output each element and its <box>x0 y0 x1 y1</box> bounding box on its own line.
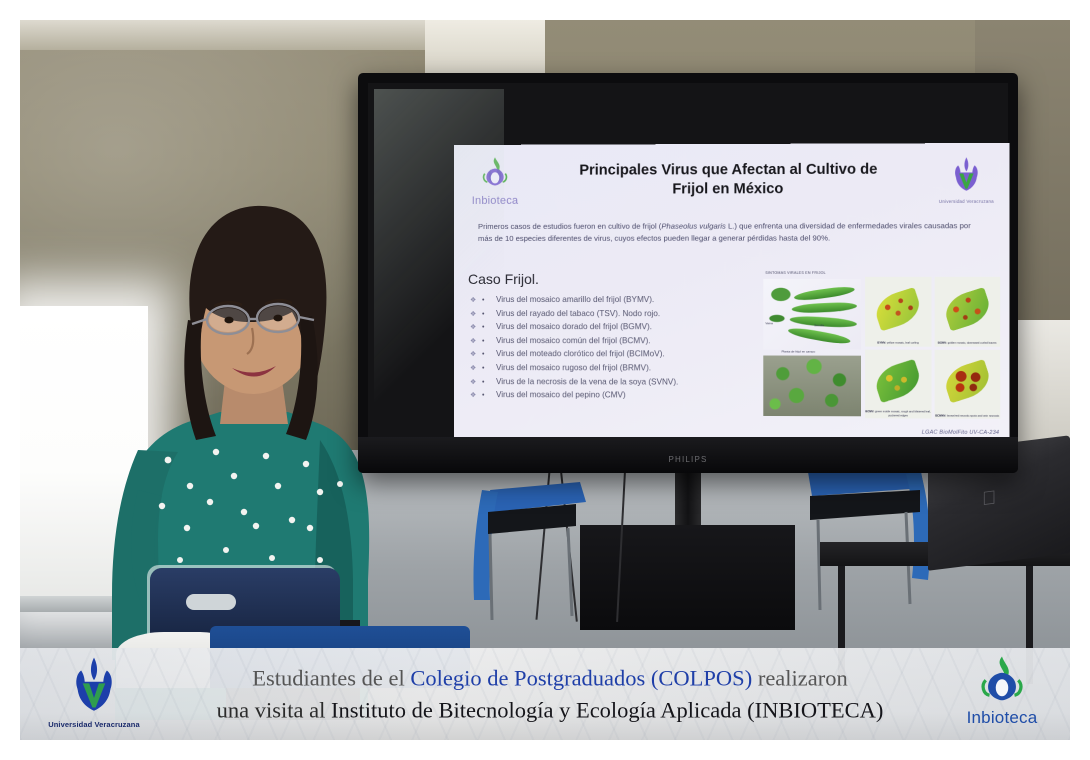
leaf-photo-cell: BCMV: green mottle mosaic, rough and bli… <box>865 349 931 418</box>
leaf-photo-cell: BGMV: golden mosaic, downward curled lea… <box>934 277 1000 346</box>
presentation-slide: Inbioteca Principales Virus que Afectan … <box>454 143 1010 439</box>
bean-field-photo <box>763 356 861 417</box>
dot-bullet-icon: • <box>482 295 496 307</box>
list-item: ❖ • Virus del mosaico amarillo del frijo… <box>470 293 772 307</box>
slide-inbioteca-label: Inbioteca <box>462 195 528 207</box>
list-item: ❖ • Virus del mosaico del pepino (CMV) <box>470 388 772 402</box>
slide-title-line2: Frijol en México <box>532 180 925 200</box>
caption-inbioteca-label: Inbioteca <box>950 708 1054 728</box>
leaf-caption-text: yellow mosaic, leaf curling <box>887 342 919 345</box>
paragraph-part-a: Primeros casos de estudios fueron en cul… <box>478 222 661 231</box>
list-item: ❖ • Virus del mosaico dorado del frijol … <box>470 320 772 334</box>
caption-uv-label: Universidad Veracruzana <box>42 720 146 729</box>
leaf-bymv <box>872 286 925 331</box>
diamond-bullet-icon: ❖ <box>470 349 482 361</box>
plants-label: Planta de frijol en campo <box>782 349 816 353</box>
slide-title: Principales Virus que Afectan al Cultivo… <box>528 160 929 200</box>
diamond-bullet-icon: ❖ <box>470 377 482 389</box>
slide-title-line1: Principales Virus que Afectan al Cultivo… <box>532 160 925 181</box>
images-panel-title: SINTOMAS VIRALES EN FRIJOL <box>765 271 825 275</box>
slide-section-title: Caso Frijol. <box>468 271 539 287</box>
list-item-label: Virus de la necrosis de la vena de la so… <box>496 375 678 389</box>
list-item-label: Virus del mosaico dorado del frijol (BGM… <box>496 320 652 334</box>
leaf-caption: BCMV: green mottle mosaic, rough and bli… <box>865 410 931 417</box>
diamond-bullet-icon: ❖ <box>470 295 482 307</box>
slide-header: Inbioteca Principales Virus que Afectan … <box>454 147 1010 213</box>
virus-list: ❖ • Virus del mosaico amarillo del frijo… <box>470 293 772 403</box>
caption-inbioteca-logo: Inbioteca <box>950 654 1054 728</box>
chair-handle-slot <box>186 594 236 610</box>
leaf-caption: BGMV: golden mosaic, downward curled lea… <box>934 342 1000 346</box>
photograph:  <box>20 20 1070 740</box>
caption-line1-part2: realizaron <box>752 666 848 691</box>
bean-pods-photo: Vaina Semilla <box>763 279 861 350</box>
list-item-label: Virus del mosaico del pepino (CMV) <box>496 388 626 402</box>
diamond-bullet-icon: ❖ <box>470 309 482 321</box>
diamond-bullet-icon: ❖ <box>470 390 482 402</box>
screen-panel: Inbioteca Principales Virus que Afectan … <box>368 83 1008 437</box>
caption-institute-name: Instituto de Bitecnología y Ecología Apl… <box>331 697 883 722</box>
photo-frame:  <box>0 0 1090 760</box>
leaf-caption-code: BCMV: <box>865 410 874 413</box>
list-item-label: Virus del mosaico común del frijol (BCMV… <box>496 334 651 348</box>
leaf-caption: BYMV: yellow mosaic, leaf curling <box>865 342 931 345</box>
dot-bullet-icon: • <box>482 363 496 375</box>
caption-uv-logo: Universidad Veracruzana <box>42 656 146 729</box>
inbioteca-flame-icon <box>976 654 1028 704</box>
caption-line-1: Estudiantes de el Colegio de Postgraduad… <box>170 663 930 695</box>
leaf-caption-text: brown/red necrotic spots and vein necros… <box>947 414 999 417</box>
diamond-bullet-icon: ❖ <box>470 336 482 348</box>
caption-line-2: una visita al Instituto de Bitecnología … <box>170 694 930 726</box>
list-item-label: Virus del rayado del tabaco (TSV). Nodo … <box>496 307 660 321</box>
uv-fleur-de-lis-icon <box>949 156 984 193</box>
species-name: Phaseolus vulgaris <box>661 222 726 231</box>
slide-inbioteca-logo: Inbioteca <box>462 155 528 207</box>
apple-logo-icon:  <box>982 488 1002 514</box>
leaf-caption-text: golden mosaic, downward curled leaves <box>948 342 997 345</box>
leaf-caption: BCMNV: brown/red necrotic spots and vein… <box>934 414 1000 418</box>
tv-bottom-bezel: PHILIPS <box>358 437 1018 473</box>
caption-line2-part1: una visita al <box>217 697 331 722</box>
leaf-caption-text: green mottle mosaic, rough and blistered… <box>875 411 931 418</box>
tv-brand-label: PHILIPS <box>668 455 707 464</box>
slide-footer-note: LGAC BioMolFito UV-CA-234 <box>922 430 999 436</box>
dot-bullet-icon: • <box>482 377 496 389</box>
leaf-photo-cell: BYMV: yellow mosaic, leaf curling <box>865 277 931 346</box>
caption-line1-part1: Estudiantes de el <box>252 666 410 691</box>
symptom-images-panel: SINTOMAS VIRALES EN FRIJOL Vaina Semilla… <box>763 271 1000 419</box>
uv-fleur-de-lis-icon <box>66 656 122 714</box>
slide-uv-label: Universidad Veracruzana <box>929 198 1003 203</box>
display-screen: Inbioteca Principales Virus que Afectan … <box>358 73 1018 473</box>
leaf-caption-code: BGMV: <box>938 342 947 345</box>
pod-label-left: Vaina <box>765 321 773 325</box>
inbioteca-flame-icon <box>478 155 512 189</box>
dot-bullet-icon: • <box>482 336 496 348</box>
list-item: ❖ • Virus del rayado del tabaco (TSV). N… <box>470 307 772 321</box>
leaf-bgmv <box>941 286 994 331</box>
dot-bullet-icon: • <box>482 322 496 334</box>
slide-uv-logo: Universidad Veracruzana <box>929 156 1003 204</box>
caption-text: Estudiantes de el Colegio de Postgraduad… <box>170 663 930 726</box>
diseased-leaves-grid: BYMV: yellow mosaic, leaf curling BGMV: … <box>865 277 1000 419</box>
caption-banner: Universidad Veracruzana Estudiantes de e… <box>20 648 1070 740</box>
list-item: ❖ • Virus del mosaico común del frijol (… <box>470 334 772 348</box>
list-item: ❖ • Virus del moteado clorótico del frij… <box>470 347 772 361</box>
leaf-caption-code: BCMNV: <box>935 414 946 417</box>
diamond-bullet-icon: ❖ <box>470 363 482 375</box>
list-item-label: Virus del mosaico rugoso del frijol (BRM… <box>496 361 651 375</box>
dot-bullet-icon: • <box>482 309 496 321</box>
slide-paragraph: Primeros casos de estudios fueron en cul… <box>478 220 985 246</box>
diamond-bullet-icon: ❖ <box>470 322 482 334</box>
leaf-photo-cell: BCMNV: brown/red necrotic spots and vein… <box>934 349 1000 419</box>
list-item: ❖ • Virus del mosaico rugoso del frijol … <box>470 361 772 375</box>
caption-highlight: Colegio de Postgraduados (COLPOS) <box>410 666 752 691</box>
list-item: ❖ • Virus de la necrosis de la vena de l… <box>470 375 772 389</box>
leaf-bcmnv <box>941 359 994 404</box>
list-item-label: Virus del moteado clorótico del frijol (… <box>496 347 665 361</box>
leaf-caption-code: BYMV: <box>877 342 886 345</box>
pod-label-right: Semilla <box>814 323 824 327</box>
dot-bullet-icon: • <box>482 390 496 402</box>
dot-bullet-icon: • <box>482 349 496 361</box>
leaf-bcmv <box>872 359 925 403</box>
list-item-label: Virus del mosaico amarillo del frijol (B… <box>496 293 654 306</box>
